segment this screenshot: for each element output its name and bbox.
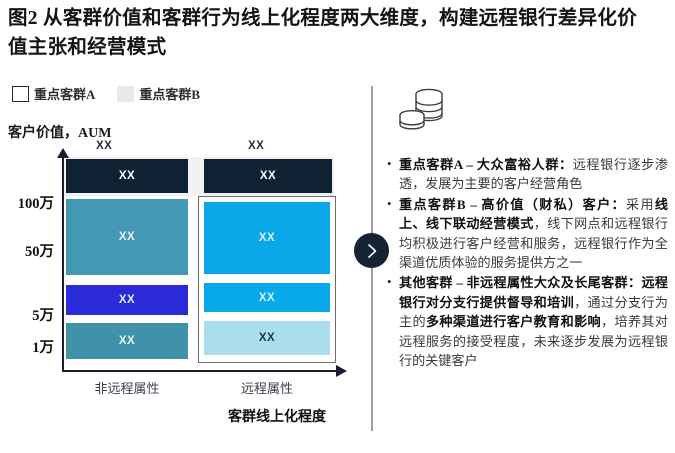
bullet-lead-b: 重点客群B – 高价值（财私）客户： bbox=[399, 197, 626, 212]
matrix-cell-label: XX bbox=[260, 170, 276, 182]
insight-bullet-list: 重点客群A – 大众富裕人群：远程银行逐步渗透，发展为主要的客户经营角色 重点客… bbox=[386, 155, 668, 371]
matrix-cell-r1-c2[interactable]: XX bbox=[204, 159, 332, 193]
y-axis-title: 客户价值，AUM bbox=[8, 122, 111, 142]
bullet-lead-a: 重点客群A – 大众富裕人群： bbox=[399, 157, 573, 172]
matrix-cell-label: XX bbox=[119, 294, 135, 306]
x-axis-arrowhead-icon bbox=[336, 365, 347, 377]
y-axis-line bbox=[62, 156, 64, 372]
matrix-cell-r4-c2[interactable]: XX bbox=[204, 321, 330, 355]
legend-item-key-segment-a: 重点客群A bbox=[12, 84, 95, 103]
chevron-right-icon[interactable] bbox=[354, 233, 389, 268]
list-item: 其他客群 – 非远程属性大众及长尾客群：远程银行对分支行提供督导和培训，通过分支… bbox=[386, 273, 668, 370]
legend-swatch-a-icon bbox=[12, 86, 29, 102]
matrix-cell-r1-c1[interactable]: XX bbox=[66, 159, 188, 193]
matrix-cell-label: XX bbox=[119, 231, 135, 243]
list-item: 重点客群A – 大众富裕人群：远程银行逐步渗透，发展为主要的客户经营角色 bbox=[386, 155, 668, 194]
legend-swatch-b-icon bbox=[117, 86, 134, 102]
column-header-left: XX bbox=[96, 140, 112, 152]
legend-item-key-segment-b: 重点客群B bbox=[117, 84, 200, 103]
matrix-cell-r2-c2[interactable]: XX bbox=[204, 202, 330, 274]
list-item: 重点客群B – 高价值（财私）客户：采用线上、线下联动经营模式，线下网点和远程银… bbox=[386, 195, 668, 273]
y-tick-5w: 5万 bbox=[2, 304, 54, 325]
chart-legend: 重点客群A 重点客群B bbox=[12, 84, 216, 103]
x-axis-title: 客群线上化程度 bbox=[228, 406, 326, 426]
column-header-right: XX bbox=[248, 140, 264, 152]
segment-matrix-chart: XX XX 100万 50万 5万 1万 XX XX XX XX XX XX X… bbox=[0, 140, 350, 440]
legend-label-b: 重点客群B bbox=[139, 84, 200, 103]
x-axis-line bbox=[62, 370, 339, 372]
page-title: 图2 从客群价值和客群行为线上化程度两大维度，构建远程银行差异化价值主张和经营模… bbox=[8, 4, 648, 62]
x-tick-remote: 远程属性 bbox=[210, 378, 324, 397]
y-axis-arrowhead-icon bbox=[57, 148, 69, 158]
bullet-body-b-pre: 采用 bbox=[626, 197, 655, 212]
matrix-cell-r3-c2[interactable]: XX bbox=[204, 283, 330, 312]
matrix-cell-label: XX bbox=[259, 332, 275, 344]
coin-stack-icon bbox=[396, 86, 452, 143]
bullet-lead-c: 其他客群 – 非远程属性大众及长尾客群： bbox=[399, 275, 641, 290]
x-tick-non-remote: 非远程属性 bbox=[70, 378, 184, 397]
matrix-cell-label: XX bbox=[119, 335, 135, 347]
matrix-cell-r3-c1[interactable]: XX bbox=[66, 285, 188, 315]
matrix-cell-label: XX bbox=[259, 292, 275, 304]
y-tick-100w: 100万 bbox=[2, 192, 54, 213]
matrix-cell-label: XX bbox=[119, 170, 135, 182]
matrix-cell-r4-c1[interactable]: XX bbox=[66, 323, 188, 359]
y-tick-50w: 50万 bbox=[2, 240, 54, 261]
bullet-body-c-bold2: 多种渠道进行客户教育和影响 bbox=[426, 314, 601, 329]
y-tick-1w: 1万 bbox=[2, 336, 54, 357]
matrix-cell-label: XX bbox=[259, 232, 275, 244]
legend-label-a: 重点客群A bbox=[34, 84, 95, 103]
matrix-cell-r2-c1[interactable]: XX bbox=[66, 199, 188, 275]
